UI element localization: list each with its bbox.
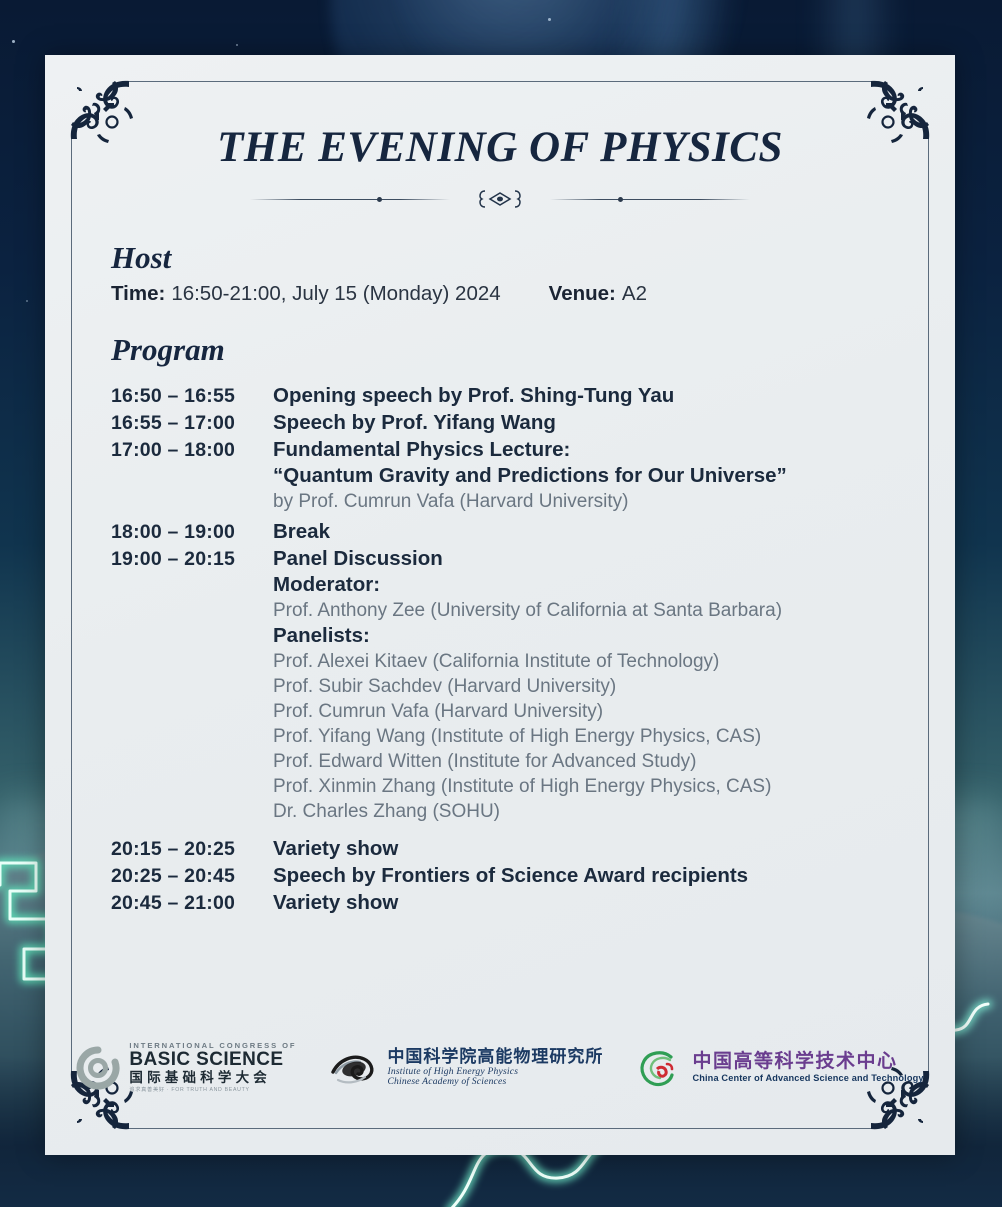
- ccast-mark-icon: [637, 1047, 683, 1089]
- panelist-item: Prof. Cumrun Vafa (Harvard University): [273, 701, 895, 723]
- divider-ornament-icon: [463, 187, 537, 211]
- star: [236, 44, 238, 46]
- program-desc: Break: [273, 520, 330, 544]
- sponsor-logos: INTERNATIONAL CONGRESS OF BASIC SCIENCE …: [45, 1042, 955, 1093]
- panelist-item: Prof. Subir Sachdev (Harvard University): [273, 676, 895, 698]
- program-time: 18:00 – 19:00: [111, 521, 273, 544]
- logo-ihep: 中国科学院高能物理研究所 Institute of High Energy Ph…: [330, 1048, 603, 1088]
- program-row: 16:55 – 17:00 Speech by Prof. Yifang Wan…: [105, 411, 895, 435]
- program-time: 20:15 – 20:25: [111, 838, 273, 861]
- icbs-mark-icon: [76, 1046, 120, 1090]
- program-time: 17:00 – 18:00: [111, 439, 273, 462]
- moderator-name: Prof. Anthony Zee (University of Califor…: [273, 600, 895, 622]
- program-row: 20:25 – 20:45 Speech by Frontiers of Sci…: [105, 864, 895, 888]
- logo-icbs: INTERNATIONAL CONGRESS OF BASIC SCIENCE …: [76, 1042, 296, 1093]
- logo-ccast: 中国高等科学技术中心 China Center of Advanced Scie…: [637, 1047, 923, 1089]
- program-row: 20:45 – 21:00 Variety show: [105, 891, 895, 915]
- program-desc: Fundamental Physics Lecture:: [273, 438, 570, 462]
- venue-value: A2: [622, 282, 647, 306]
- divider-dot-right: [618, 197, 623, 202]
- icbs-subline: 追求真善美好 · FOR TRUTH AND BEAUTY: [129, 1088, 296, 1093]
- program-time: 16:55 – 17:00: [111, 412, 273, 435]
- divider-dot-left: [377, 197, 382, 202]
- frame-line-bottom: [127, 1128, 873, 1129]
- program-time: 20:25 – 20:45: [111, 865, 273, 888]
- icbs-chinese: 国际基础科学大会: [129, 1071, 296, 1085]
- ccast-chinese: 中国高等科学技术中心: [692, 1052, 923, 1072]
- poster-card: THE EVENING OF PHYSICS Host Time: 16:50-…: [45, 55, 955, 1155]
- time-value: 16:50-21:00, July 15 (Monday) 2024: [171, 282, 500, 306]
- panelist-item: Prof. Edward Witten (Institute for Advan…: [273, 751, 895, 773]
- page-title: THE EVENING OF PHYSICS: [105, 123, 895, 172]
- time-label: Time:: [111, 282, 165, 306]
- panelist-item: Dr. Charles Zhang (SOHU): [273, 801, 895, 823]
- program-time: 19:00 – 20:15: [111, 548, 273, 571]
- program-row: 17:00 – 18:00 Fundamental Physics Lectur…: [105, 438, 895, 462]
- divider-rule-left: [250, 199, 450, 200]
- program-time: 20:45 – 21:00: [111, 892, 273, 915]
- ccast-english: China Center of Advanced Science and Tec…: [692, 1074, 923, 1084]
- program-desc: Variety show: [273, 891, 398, 915]
- lecture-title: “Quantum Gravity and Predictions for Our…: [273, 464, 895, 488]
- panelist-item: Prof. Alexei Kitaev (California Institut…: [273, 651, 895, 673]
- title-divider: [105, 184, 895, 214]
- star: [12, 40, 15, 43]
- host-heading: Host: [111, 240, 895, 276]
- icbs-name: BASIC SCIENCE: [129, 1050, 296, 1070]
- program-heading: Program: [111, 332, 895, 368]
- panelists-label: Panelists:: [273, 624, 895, 648]
- program-row: 20:15 – 20:25 Variety show: [105, 837, 895, 861]
- program-desc: Variety show: [273, 837, 398, 861]
- program-desc: Speech by Prof. Yifang Wang: [273, 411, 556, 435]
- venue-label: Venue:: [549, 282, 616, 306]
- ihep-chinese: 中国科学院高能物理研究所: [387, 1049, 603, 1067]
- star: [26, 300, 28, 302]
- moderator-label: Moderator:: [273, 573, 895, 597]
- panelist-item: Prof. Xinmin Zhang (Institute of High En…: [273, 776, 895, 798]
- program-row: 19:00 – 20:15 Panel Discussion: [105, 547, 895, 571]
- host-details: Time: 16:50-21:00, July 15 (Monday) 2024…: [111, 282, 895, 306]
- lecture-speaker: by Prof. Cumrun Vafa (Harvard University…: [273, 491, 895, 513]
- panelist-item: Prof. Yifang Wang (Institute of High Ene…: [273, 726, 895, 748]
- ihep-english-line2: Chinese Academy of Sciences: [387, 1077, 603, 1087]
- program-time: 16:50 – 16:55: [111, 385, 273, 408]
- program-row: 16:50 – 16:55 Opening speech by Prof. Sh…: [105, 384, 895, 408]
- program-desc: Opening speech by Prof. Shing-Tung Yau: [273, 384, 674, 408]
- program-desc: Speech by Frontiers of Science Award rec…: [273, 864, 748, 888]
- program-row: 18:00 – 19:00 Break: [105, 520, 895, 544]
- ihep-swirl-icon: [330, 1048, 378, 1088]
- star: [548, 18, 551, 21]
- program-desc: Panel Discussion: [273, 547, 443, 571]
- divider-rule-right: [550, 199, 750, 200]
- program-list: 16:50 – 16:55 Opening speech by Prof. Sh…: [105, 384, 895, 915]
